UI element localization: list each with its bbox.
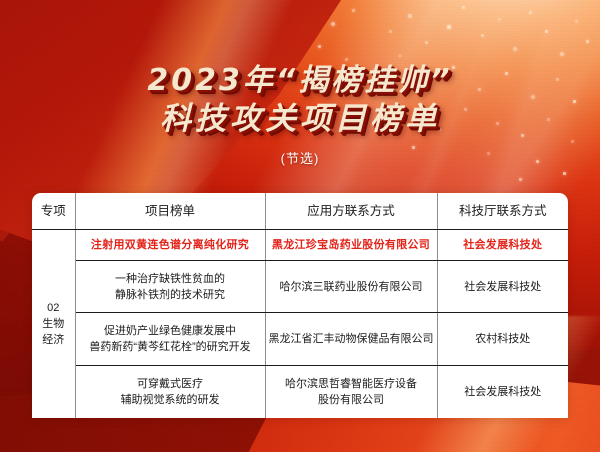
cell-applicant: 哈尔滨思哲睿智能医疗设备 股份有限公司 [265, 366, 437, 418]
poster-title-block: 2023年“揭榜挂帅” 科技攻关项目榜单 (节选) [0, 62, 600, 167]
column-header-bureau: 科技厅联系方式 [437, 193, 568, 229]
column-header-category: 专项 [32, 193, 75, 229]
cell-applicant: 哈尔滨三联药业股份有限公司 [265, 260, 437, 313]
cell-category: 02 生物 经济 [32, 229, 75, 418]
cell-bureau: 农村科技处 [437, 313, 568, 366]
cell-project: 促进奶产业绿色健康发展中 兽药新药“黄芩红花栓”的研究开发 [75, 313, 265, 366]
project-listing-card: 专项 项目榜单 应用方联系方式 科技厅联系方式 02 生物 经济注射用双黄连色谱… [32, 193, 568, 418]
poster-canvas: 2023年“揭榜挂帅” 科技攻关项目榜单 (节选) 专项 项目榜单 应用方联系方… [0, 0, 600, 452]
cell-bureau: 社会发展科技处 [437, 366, 568, 418]
table-header-row: 专项 项目榜单 应用方联系方式 科技厅联系方式 [32, 193, 568, 229]
column-header-applicant: 应用方联系方式 [265, 193, 437, 229]
project-listing-table: 专项 项目榜单 应用方联系方式 科技厅联系方式 02 生物 经济注射用双黄连色谱… [32, 193, 568, 418]
cell-applicant: 黑龙江珍宝岛药业股份有限公司 [265, 229, 437, 260]
cell-project: 可穿戴式医疗 辅助视觉系统的研发 [75, 366, 265, 418]
table-row: 可穿戴式医疗 辅助视觉系统的研发哈尔滨思哲睿智能医疗设备 股份有限公司社会发展科… [32, 366, 568, 418]
table-row: 02 生物 经济注射用双黄连色谱分离纯化研究黑龙江珍宝岛药业股份有限公司社会发展… [32, 229, 568, 260]
table-header: 专项 项目榜单 应用方联系方式 科技厅联系方式 [32, 193, 568, 229]
cell-bureau: 社会发展科技处 [437, 260, 568, 313]
cell-project: 注射用双黄连色谱分离纯化研究 [75, 229, 265, 260]
cell-applicant: 黑龙江省汇丰动物保健品有限公司 [265, 313, 437, 366]
table-row: 促进奶产业绿色健康发展中 兽药新药“黄芩红花栓”的研究开发黑龙江省汇丰动物保健品… [32, 313, 568, 366]
poster-title-line-1: 2023年“揭榜挂帅” [0, 62, 600, 100]
poster-subtitle: (节选) [0, 148, 600, 167]
column-header-project: 项目榜单 [75, 193, 265, 229]
table-body: 02 生物 经济注射用双黄连色谱分离纯化研究黑龙江珍宝岛药业股份有限公司社会发展… [32, 229, 568, 418]
cell-project: 一种治疗缺铁性贫血的 静脉补铁剂的技术研究 [75, 260, 265, 313]
table-row: 一种治疗缺铁性贫血的 静脉补铁剂的技术研究哈尔滨三联药业股份有限公司社会发展科技… [32, 260, 568, 313]
cell-bureau: 社会发展科技处 [437, 229, 568, 260]
poster-title-line-2: 科技攻关项目榜单 [0, 100, 600, 138]
